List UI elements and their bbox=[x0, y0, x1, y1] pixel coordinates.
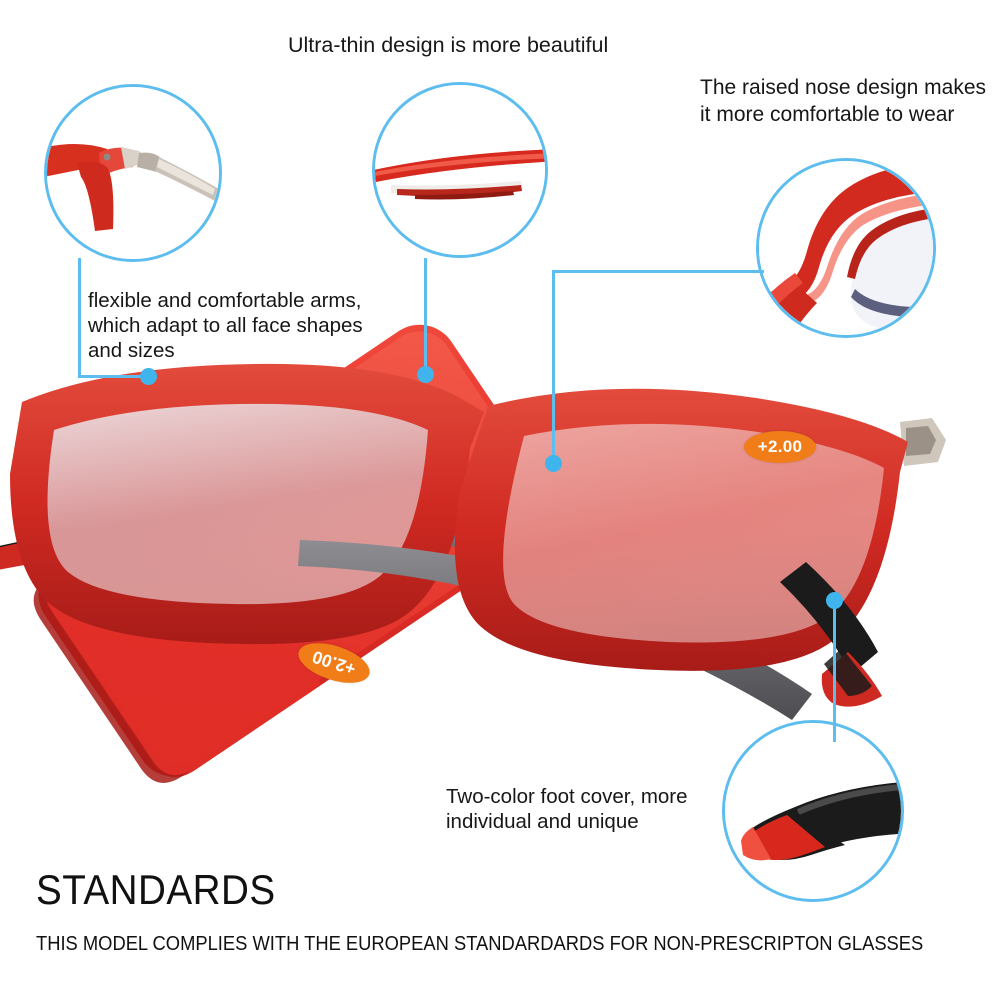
connector-ultra-thin-vertical bbox=[424, 258, 427, 374]
caption-flexible-arms: flexible and comfortable arms, which ada… bbox=[88, 288, 363, 363]
callout-circle-hinge bbox=[44, 84, 222, 262]
connector-dot-nose bbox=[545, 455, 562, 472]
caption-two-color-foot: Two-color foot cover, more individual an… bbox=[446, 784, 688, 834]
nose-bridge-detail-art bbox=[759, 161, 936, 338]
connector-hinge-vertical bbox=[78, 258, 81, 378]
connector-dot-ultra-thin bbox=[417, 366, 434, 383]
connector-foot-vertical bbox=[833, 600, 836, 742]
hinge-detail-art bbox=[47, 87, 222, 262]
standards-heading: STANDARDS bbox=[36, 866, 276, 914]
connector-nose-horizontal bbox=[552, 270, 764, 273]
foot-cover-detail-art bbox=[725, 723, 904, 902]
callout-circle-foot bbox=[722, 720, 904, 902]
callout-circle-ultra-thin bbox=[372, 82, 548, 258]
standards-compliance-note: THIS MODEL COMPLIES WITH THE EUROPEAN ST… bbox=[36, 932, 923, 956]
connector-dot-foot bbox=[826, 592, 843, 609]
connector-nose-vertical bbox=[552, 270, 555, 462]
caption-raised-nose: The raised nose design makes it more com… bbox=[700, 74, 986, 128]
lens-power-badge: +2.00 bbox=[744, 431, 816, 463]
caption-ultra-thin: Ultra-thin design is more beautiful bbox=[288, 32, 608, 58]
callout-circle-nose bbox=[756, 158, 936, 338]
product-infographic: +2.00 +2.00 Ultra-thin design is more be… bbox=[0, 0, 1000, 1000]
ultra-thin-detail-art bbox=[375, 85, 548, 258]
connector-dot-hinge bbox=[140, 368, 157, 385]
